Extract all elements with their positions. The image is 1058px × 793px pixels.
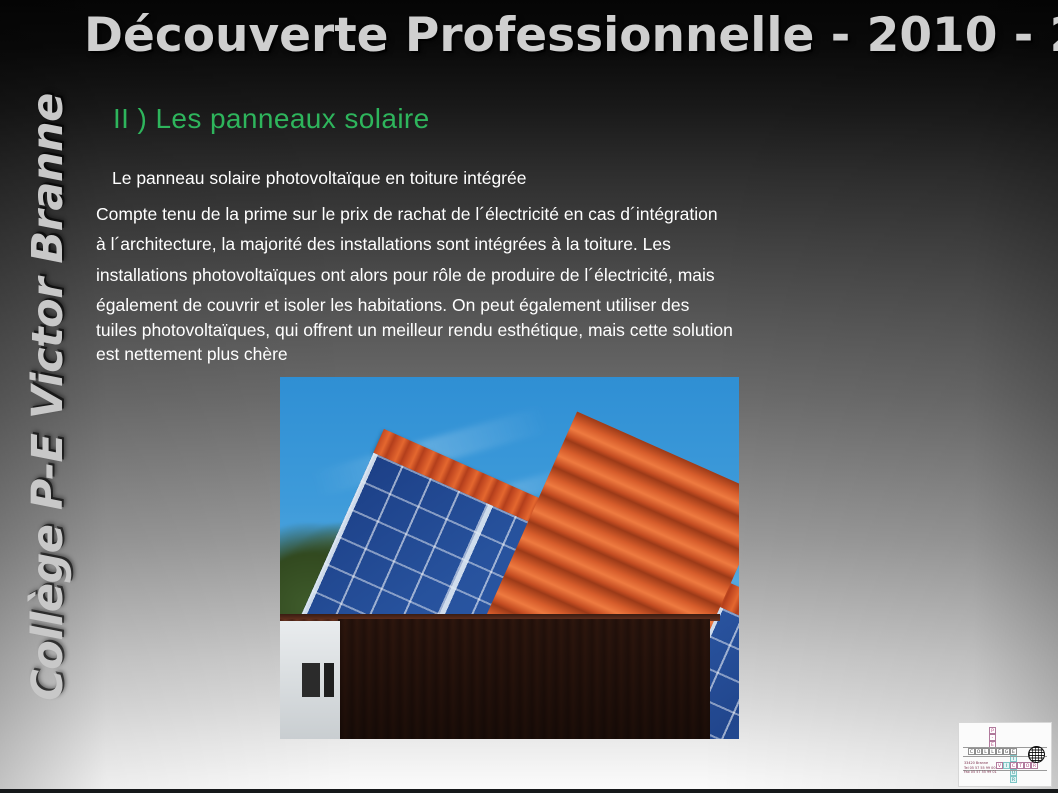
logo-cell: C — [1010, 762, 1017, 769]
body-line-5: tuiles photovoltaïques, qui offrent un m… — [96, 319, 996, 341]
logo-cell: R — [1010, 776, 1017, 783]
body-line-6: est nettement plus chère — [96, 343, 996, 365]
logo-cell: T — [1017, 762, 1024, 769]
logo-cell: L — [989, 748, 996, 755]
logo-cell: L — [982, 748, 989, 755]
body-line-3: installations photovoltaïques ont alors … — [96, 264, 996, 286]
body-text-block: Le panneau solaire photovoltaïque en toi… — [96, 168, 996, 367]
slide-title: Découverte Professionnelle - 2010 - 2011 — [84, 8, 1058, 63]
photo-content — [280, 377, 739, 739]
logo-cell: V — [996, 762, 1003, 769]
logo-cell: È — [996, 748, 1003, 755]
logo-cell: C — [968, 748, 975, 755]
body-line-4: également de couvrir et isoler les habit… — [96, 294, 996, 316]
logo-cell: G — [1003, 748, 1010, 755]
logo-cell: - — [989, 734, 996, 741]
sidebar-school-name: Collège P-E Victor Branne — [0, 0, 96, 793]
solar-panel-photo — [280, 377, 739, 739]
logo-cell: R — [1031, 762, 1038, 769]
slide-bottom-border — [0, 789, 1058, 793]
logo-cell: O — [975, 748, 982, 755]
section-heading: II ) Les panneaux solaire — [113, 103, 430, 135]
logo-cell: O — [1024, 762, 1031, 769]
sidebar-school-name-label: Collège P-E Victor Branne — [23, 93, 73, 701]
logo-cell: I — [1003, 762, 1010, 769]
globe-icon — [1028, 746, 1045, 763]
lead-line: Le panneau solaire photovoltaïque en toi… — [112, 168, 996, 189]
logo-cell: P — [989, 727, 996, 734]
logo-cell: E — [1010, 748, 1017, 755]
wall-window — [324, 663, 334, 697]
school-logo: P - E C O L L È G E I O R V I C T O R 33… — [958, 722, 1052, 787]
logo-address: 33420 Branne Tel 05 57 55 99 00 Fax 05 5… — [964, 761, 997, 775]
body-line-2: à l´architecture, la majorité des instal… — [96, 233, 996, 255]
wall-shadow — [338, 619, 710, 739]
body-line-1: Compte tenu de la prime sur le prix de r… — [96, 203, 996, 225]
presentation-slide: Collège P-E Victor Branne Découverte Pro… — [0, 0, 1058, 793]
wall-window — [302, 663, 320, 697]
